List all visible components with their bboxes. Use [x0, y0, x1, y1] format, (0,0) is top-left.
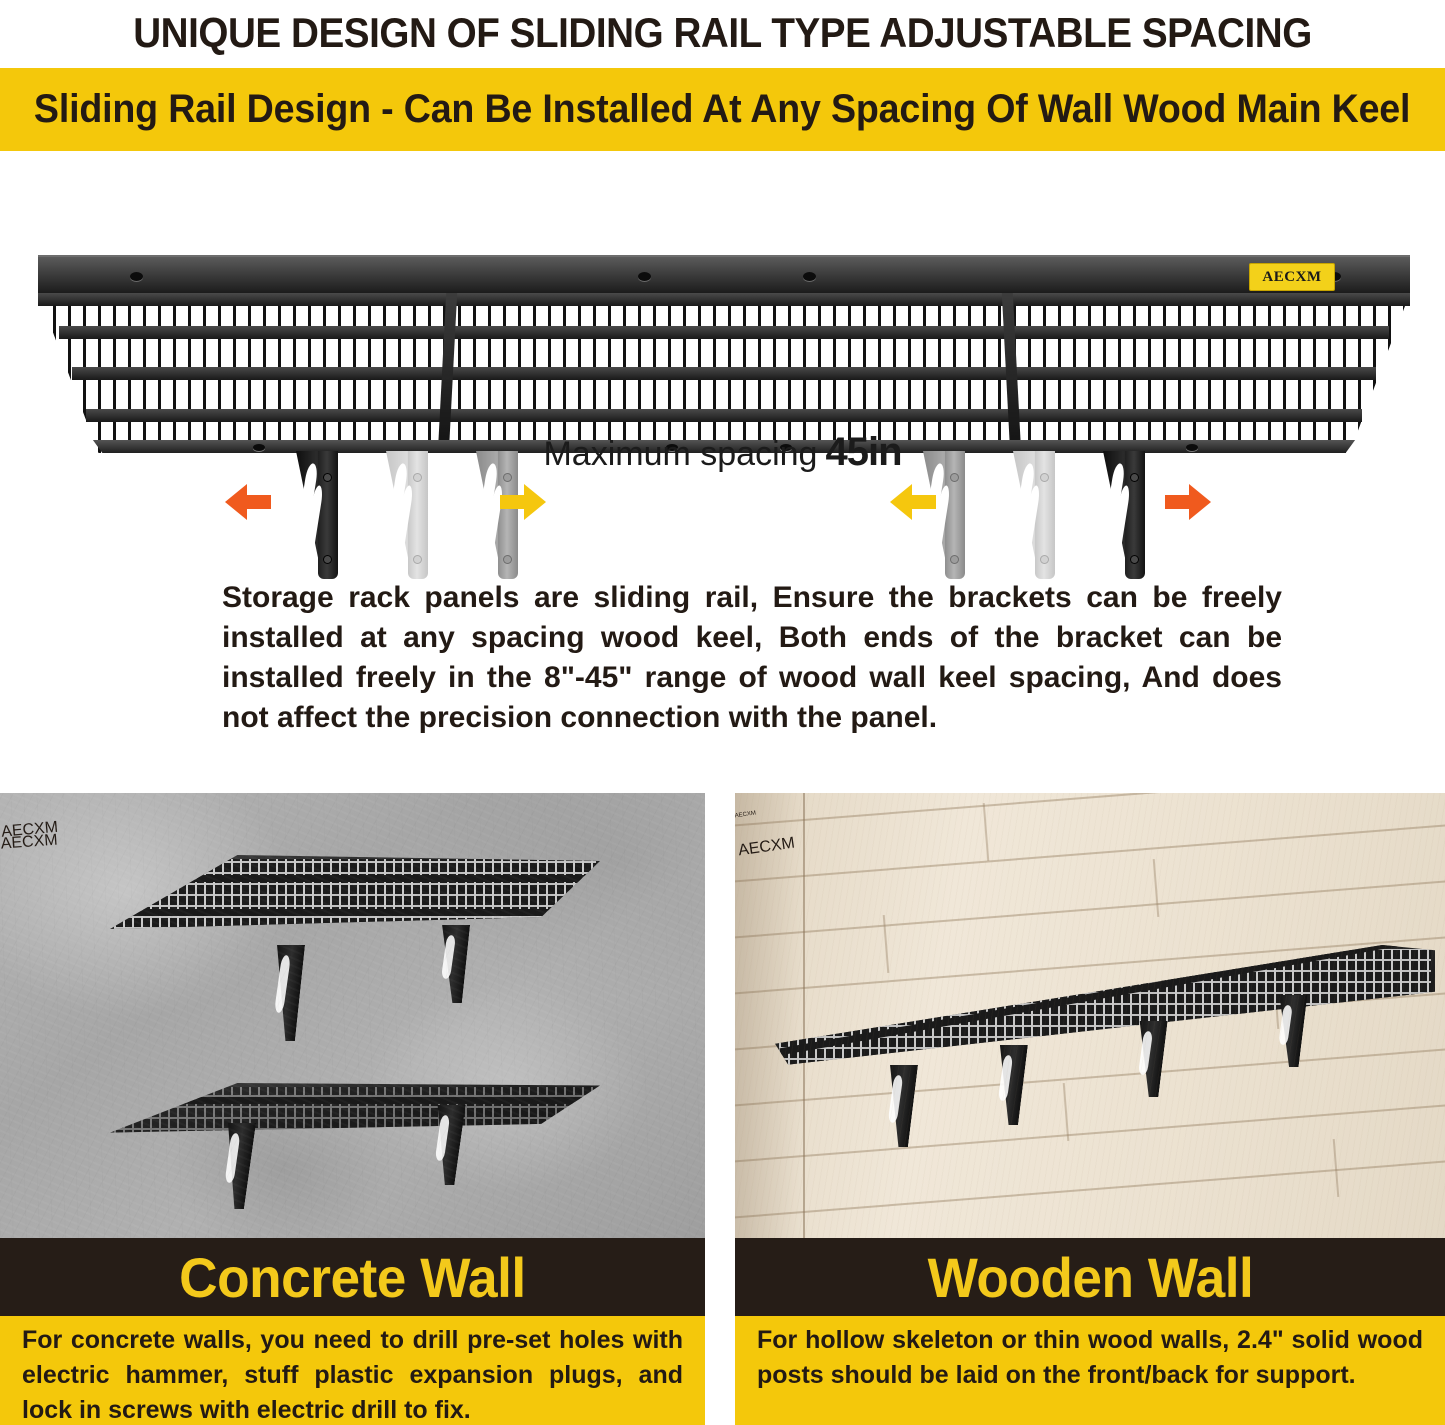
bracket-leg [1271, 995, 1308, 1067]
brand-label: AECXM [1249, 263, 1335, 291]
bracket-bolt-icon [323, 555, 332, 564]
max-spacing-annotation: Maximum spacing45in [0, 430, 1445, 475]
arrow-left-inner-right-icon [890, 484, 936, 520]
rack-deck [38, 293, 1410, 453]
arrow-right-inner-left-icon [500, 484, 546, 520]
shelf-rail [110, 875, 600, 882]
wall-corner-shadow [735, 793, 805, 1238]
arrow-left-outer-left-icon [225, 484, 271, 520]
wood-plank [735, 874, 1445, 1001]
caption-bar-wooden: Wooden Wall [735, 1238, 1445, 1316]
deck-rail [72, 367, 1375, 380]
shelf-lower [110, 1083, 600, 1145]
wood-plank-joint [883, 915, 890, 973]
arrow-right-outer-right-icon [1165, 484, 1211, 520]
bracket-leg [434, 925, 470, 1003]
subtitle-banner: Sliding Rail Design - Can Be Installed A… [0, 68, 1445, 151]
bracket-cutout [888, 1075, 904, 1124]
mounting-hole-icon [130, 272, 143, 281]
wood-plank-joint [1063, 1083, 1070, 1141]
shelf-brand-tag: AECXM [1, 793, 705, 842]
bracket-leg [267, 945, 305, 1041]
shelf-surface [110, 1083, 600, 1145]
shelf-surface [110, 855, 600, 955]
bracket-leg [990, 1045, 1028, 1125]
caption-text-concrete: For concrete walls, you need to drill pr… [0, 1316, 705, 1425]
subtitle-text: Sliding Rail Design - Can Be Installed A… [34, 87, 1410, 132]
wooden-wall-photo: AECXM AECXM [735, 793, 1445, 1238]
wood-plank [735, 793, 1445, 889]
bracket-bolt-icon [950, 555, 959, 564]
wood-plank [735, 1098, 1445, 1225]
bracket-cutout [225, 1133, 241, 1184]
shelf-long [775, 945, 1435, 1075]
bracket-cutout [435, 1115, 450, 1162]
deck-rail [59, 326, 1390, 339]
bracket-bolt-icon [413, 555, 422, 564]
bracket-bolt-icon [1040, 555, 1049, 564]
shelf-rail [779, 934, 1430, 1056]
wood-plank [735, 1042, 1445, 1169]
shelf-mesh [779, 949, 1431, 1071]
shelf-rail [110, 1097, 600, 1104]
wood-plank [735, 930, 1445, 1057]
bracket-cutout [441, 935, 456, 980]
max-spacing-value: 45in [825, 430, 901, 474]
wood-plank [735, 986, 1445, 1113]
shelf-surface [775, 945, 1435, 1075]
panel-wooden-wall: AECXM AECXM Wooden Wall For hollow skele… [735, 793, 1445, 1425]
max-spacing-label: Maximum spacing [543, 435, 817, 473]
wood-plank [735, 818, 1445, 945]
caption-title-wooden: Wooden Wall [927, 1245, 1253, 1310]
bracket-cutout [274, 955, 291, 1014]
bracket-leg [880, 1065, 918, 1147]
deck-rail [38, 293, 1410, 306]
wood-plank-joint [983, 803, 990, 861]
bracket-leg [1130, 1021, 1167, 1097]
bracket-bolt-icon [1130, 555, 1139, 564]
bracket-cutout [1278, 1005, 1292, 1046]
shelf-mesh [114, 1087, 596, 1141]
shelf-brand-tag: AECXM [0, 793, 705, 854]
bracket-leg [216, 1123, 256, 1209]
caption-title-concrete: Concrete Wall [179, 1245, 526, 1310]
wood-plank-joint [1333, 1139, 1340, 1197]
page-title: UNIQUE DESIGN OF SLIDING RAIL TYPE ADJUS… [58, 0, 1387, 66]
mounting-hole-icon [803, 272, 816, 281]
mounting-hole-icon [638, 272, 651, 281]
shelf-brand-tag: AECXM [737, 793, 1443, 860]
shelf-mesh [114, 859, 596, 951]
description-paragraph: Storage rack panels are sliding rail, En… [222, 578, 1282, 738]
wood-plank-joint [1153, 859, 1160, 917]
bracket-bolt-icon [503, 555, 512, 564]
bracket-cutout [1138, 1031, 1153, 1076]
shelf-upper [110, 855, 600, 955]
concrete-wall-photo: AECXM AECXM [0, 793, 705, 1238]
caption-bar-concrete: Concrete Wall [0, 1238, 705, 1316]
deck-rail [86, 409, 1362, 422]
rack-diagram: AECXM [0, 151, 1445, 571]
panel-concrete-wall: AECXM AECXM Concrete Wall For concrete w… [0, 793, 705, 1425]
caption-text-wooden: For hollow skeleton or thin wood walls, … [735, 1316, 1445, 1425]
wood-plank-joint [1273, 971, 1280, 1029]
bracket-cutout [998, 1055, 1013, 1102]
shelf-rail [110, 909, 600, 916]
bracket-leg [426, 1105, 465, 1185]
shelf-brand-tag: AECXM [735, 809, 770, 825]
rack-back-rail: AECXM [38, 255, 1410, 297]
wood-plank [735, 793, 1445, 833]
